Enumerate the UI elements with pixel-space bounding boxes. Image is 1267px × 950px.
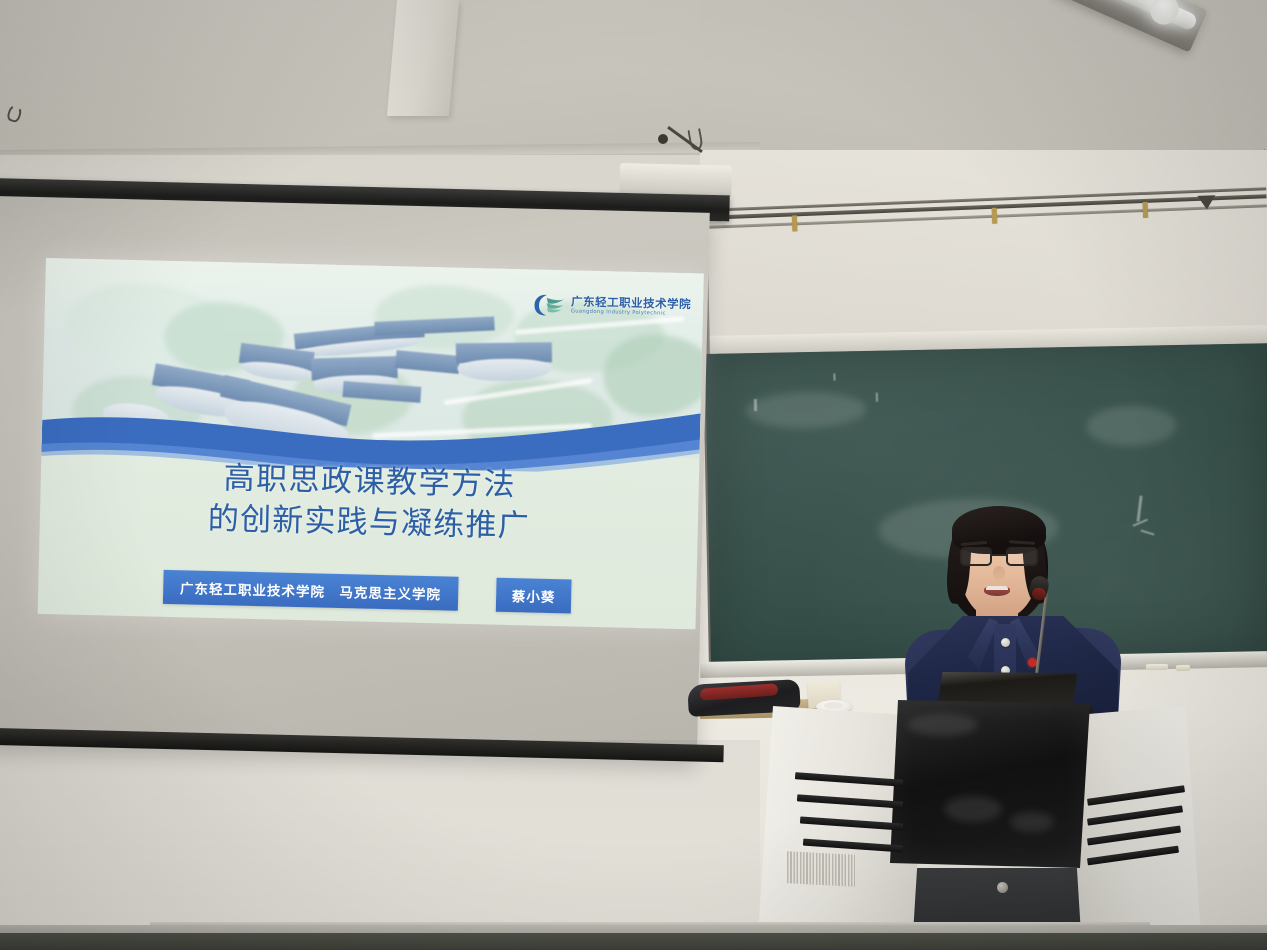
teeth xyxy=(986,586,1008,590)
glasses-icon xyxy=(958,546,1042,568)
rail-clip xyxy=(992,208,998,224)
wall-shading xyxy=(0,740,760,930)
floor xyxy=(0,933,1267,950)
chalk-piece xyxy=(1146,664,1168,670)
screen-mount-anchor xyxy=(658,134,668,144)
lectern-front-glass-panel xyxy=(890,700,1090,868)
badge-affiliation: 广东轻工职业技术学院 马克思主义学院 xyxy=(163,570,459,611)
lectern-speaker-grille xyxy=(787,851,855,887)
logo-text: 广东轻工职业技术学院 Guangdong Industry Polytechni… xyxy=(571,296,691,318)
chalk-piece xyxy=(1176,665,1190,671)
jacket-button xyxy=(1001,638,1010,647)
badge-presenter-name: 蔡小葵 xyxy=(496,578,572,614)
logo-mark-icon xyxy=(530,291,567,318)
classroom-photo-scene: 广东轻工职业技术学院 Guangdong Industry Polytechni… xyxy=(0,0,1267,950)
glasses-bridge xyxy=(992,554,1008,556)
lectern-lock-icon[interactable] xyxy=(997,882,1008,893)
slide-badges: 广东轻工职业技术学院 马克思主义学院 蔡小葵 xyxy=(38,567,697,616)
glasses-lens-right xyxy=(1006,547,1038,566)
slide-title: 高职思政课教学方法 的创新实践与凝练推广 xyxy=(39,454,699,551)
rail-hook-icon xyxy=(1197,195,1216,210)
university-logo: 广东轻工职业技术学院 Guangdong Industry Polytechni… xyxy=(530,291,692,321)
nose xyxy=(993,566,1005,580)
ceiling-beam xyxy=(387,0,459,116)
wall-above-chalkboard xyxy=(700,150,1267,340)
presentation-slide: 广东轻工职业技术学院 Guangdong Industry Polytechni… xyxy=(38,258,704,629)
rail-clip xyxy=(1143,202,1149,218)
rail-clip xyxy=(792,215,798,231)
glasses-lens-left xyxy=(960,547,992,566)
lectern xyxy=(757,700,1157,950)
